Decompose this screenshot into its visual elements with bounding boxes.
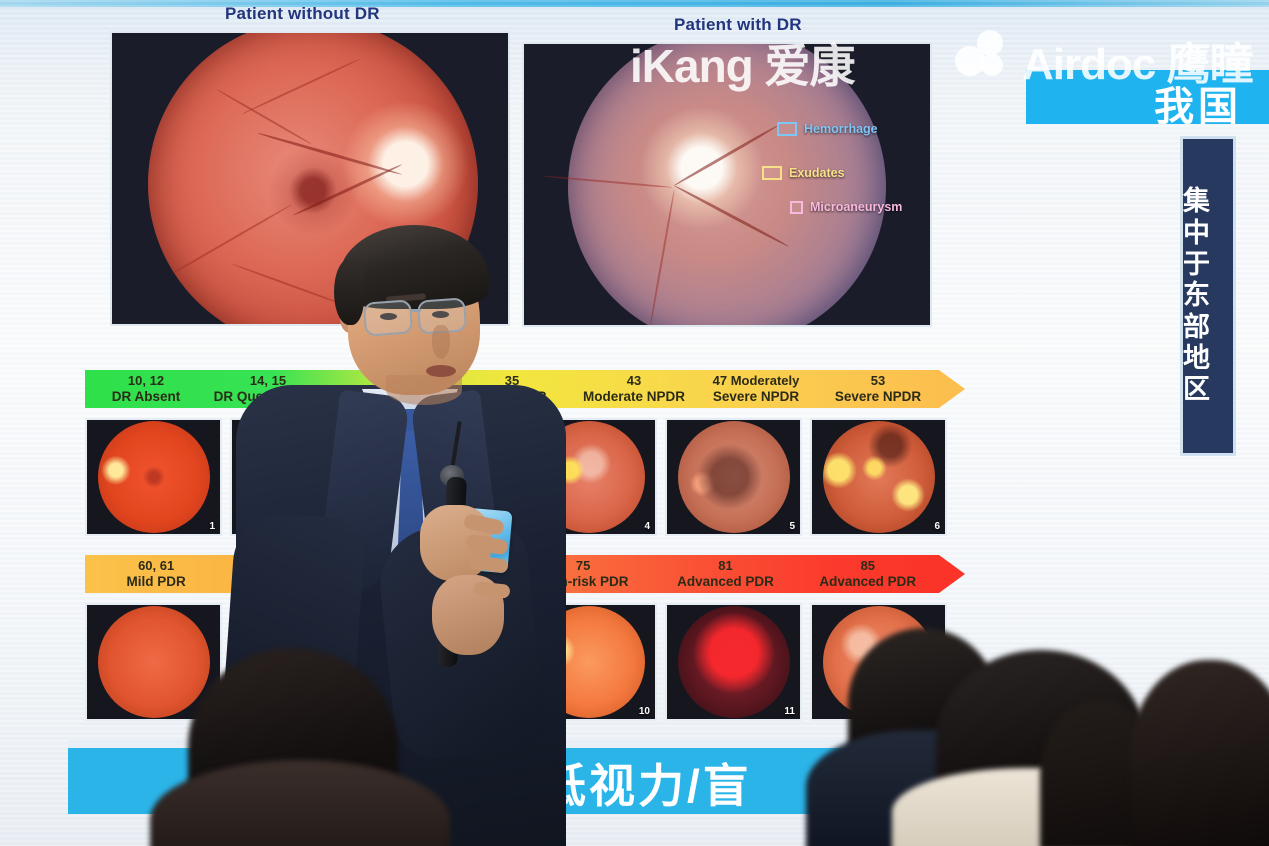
scale-segment: 10, 12 DR Absent [85, 370, 207, 408]
scale-segment: 85 Advanced PDR [797, 555, 939, 593]
scale-segment: 43 Moderate NPDR [573, 370, 695, 408]
nose [432, 325, 450, 359]
legend-label: Microaneurysm [810, 200, 902, 214]
next-slide-cyan-banner: 我国 [1026, 70, 1269, 124]
fundus-thumbnail: 11 [665, 603, 802, 721]
legend-hemorrhage: Hemorrhage [777, 122, 878, 136]
scale-segment: 53 Severe NPDR [817, 370, 939, 408]
hemorrhage-marker-icon [777, 122, 797, 136]
mouth [426, 365, 456, 377]
caption-patient-with-dr: Patient with DR [674, 15, 802, 35]
caption-patient-without-dr: Patient without DR [225, 4, 380, 24]
screen-top-accent-band [0, 0, 1269, 7]
retina-disc [678, 421, 790, 533]
exudates-marker-icon [762, 166, 782, 180]
retina-disc [678, 606, 790, 718]
legend-label: Hemorrhage [804, 122, 878, 136]
next-slide-title: 我国 [1154, 74, 1242, 132]
retina-disc [98, 606, 210, 718]
scale-segment: 47 Moderately Severe NPDR [695, 370, 817, 408]
legend-microaneurysm: Microaneurysm [790, 200, 902, 214]
eyeglasses-bridge [411, 309, 421, 312]
scale-arrowhead-icon [939, 555, 965, 593]
airdoc-logo-icon [955, 30, 1013, 88]
legend-exudates: Exudates [762, 166, 845, 180]
fundus-thumbnail: 1 [85, 418, 222, 536]
fundus-photo-with-dr: Hemorrhage Exudates Microaneurysm [522, 42, 932, 327]
microaneurysm-marker-icon [790, 201, 803, 214]
eyeglasses-lens [363, 299, 413, 336]
scale-arrowhead-icon [939, 370, 965, 408]
retina-disc [823, 421, 935, 533]
vertical-text-panel: 集中于东部地区 [1180, 136, 1236, 456]
presentation-photo: Patient without DR Patient with DR Hemor… [0, 0, 1269, 846]
legend-label: Exudates [789, 166, 845, 180]
retina-disc-dr [568, 42, 886, 327]
scale-segment: 81 Advanced PDR [654, 555, 796, 593]
scale-segment: 60, 61 Mild PDR [85, 555, 227, 593]
fundus-thumbnail: 6 [810, 418, 947, 536]
chin [386, 375, 462, 405]
retina-disc [98, 421, 210, 533]
hair-side [334, 259, 364, 325]
fundus-thumbnail: 5 [665, 418, 802, 536]
